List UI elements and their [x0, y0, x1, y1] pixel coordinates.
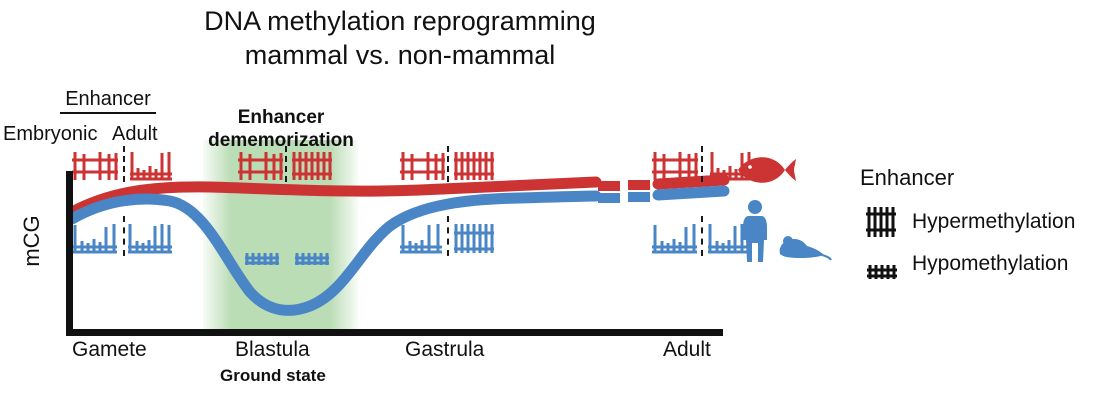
figure-root: DNA methylation reprogramming mammal vs.… — [0, 0, 1113, 409]
short-fence-icon — [860, 247, 906, 281]
divider-gamete-blue — [123, 216, 125, 256]
human-icon — [740, 198, 770, 266]
curve-mammal-tail — [658, 191, 724, 195]
enhancer-annotation-rule — [60, 112, 156, 114]
y-axis-label: mCG — [19, 206, 45, 276]
curve-break-blue-2 — [628, 192, 650, 202]
divider-gamete-red — [123, 146, 125, 182]
x-tick-blastula: Blastula — [235, 338, 310, 362]
enhancer-marks-gamete-mammal — [70, 219, 182, 255]
enhancer-marks-blastula-mammal — [243, 249, 339, 267]
divider-adult-blue — [701, 216, 703, 256]
tall-fence-icon — [860, 205, 906, 239]
plot-area: mCG Gamete Blastula Gastrula Adult Groun… — [0, 0, 800, 409]
legend-item-hypermethylation: Hypermethylation — [860, 201, 1110, 243]
mouse-icon — [774, 232, 832, 262]
enhancer-marks-gamete-non-mammal — [70, 148, 182, 182]
legend-item-hypomethylation: Hypomethylation — [860, 243, 1110, 285]
legend-label-hypomethylation: Hypomethylation — [912, 252, 1068, 276]
x-axis — [66, 329, 723, 336]
x-axis-label: Ground state — [220, 366, 326, 386]
y-axis — [66, 171, 73, 336]
dememorization-label-line-1: Enhancer — [196, 106, 366, 129]
divider-gastrula-red — [447, 146, 449, 182]
fish-icon — [736, 152, 798, 186]
legend-title: Enhancer — [860, 165, 1110, 191]
curve-break-red-2 — [628, 180, 650, 190]
x-tick-gastrula: Gastrula — [405, 338, 484, 362]
enhancer-annotation-header-text: Enhancer — [65, 88, 151, 110]
legend-label-hypermethylation: Hypermethylation — [912, 210, 1075, 234]
dememorization-label: Enhancer dememorization — [196, 106, 366, 152]
enhancer-annotation-header: Enhancer — [58, 88, 158, 114]
x-tick-adult: Adult — [663, 338, 711, 362]
enhancer-marks-gastrula-non-mammal — [398, 148, 502, 182]
label-adult: Adult — [112, 123, 158, 146]
label-embryonic: Embryonic — [3, 123, 97, 146]
enhancer-marks-blastula-non-mammal — [236, 148, 340, 182]
divider-adult-red — [701, 146, 703, 182]
legend: Enhancer Hypermethylation — [860, 165, 1110, 285]
x-tick-gamete: Gamete — [72, 338, 147, 362]
curve-break-red-1 — [598, 181, 620, 191]
dememorization-label-line-2: dememorization — [196, 129, 366, 152]
curve-break-blue-1 — [598, 193, 620, 203]
enhancer-marks-gastrula-mammal — [398, 219, 502, 255]
divider-gastrula-blue — [447, 216, 449, 256]
